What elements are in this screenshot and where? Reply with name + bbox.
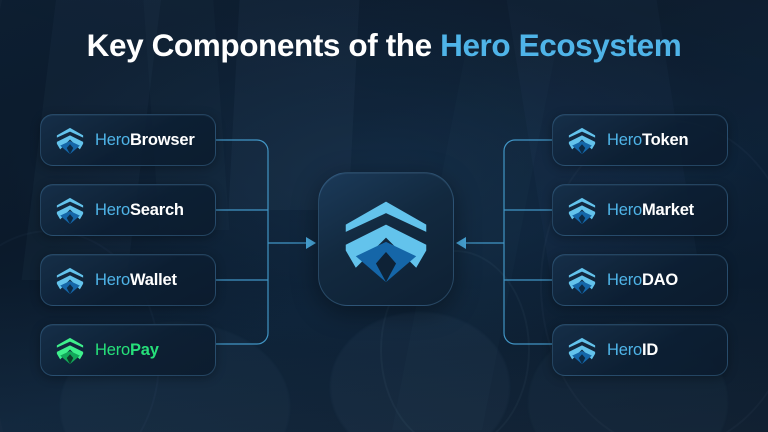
right-bus-path — [504, 140, 552, 344]
card-label-suffix: Browser — [130, 131, 195, 149]
card-label: HeroWallet — [95, 271, 177, 290]
card-label-prefix: Hero — [95, 131, 130, 149]
card-label-prefix: Hero — [607, 341, 642, 359]
card-label-suffix: Search — [130, 201, 184, 219]
arrow-left-icon — [456, 237, 466, 249]
page-title: Key Components of the Hero Ecosystem — [0, 27, 768, 64]
arrow-right-icon — [306, 237, 316, 249]
component-card-heropay[interactable]: HeroPay — [40, 324, 216, 376]
shield-icon — [567, 265, 597, 295]
card-label-prefix: Hero — [95, 341, 130, 359]
card-label: HeroDAO — [607, 271, 678, 290]
card-label-prefix: Hero — [95, 271, 130, 289]
card-label-suffix: Token — [642, 131, 688, 149]
card-label-prefix: Hero — [607, 131, 642, 149]
card-label-suffix: DAO — [642, 271, 678, 289]
center-logo-card[interactable] — [318, 172, 454, 306]
component-card-herodao[interactable]: HeroDAO — [552, 254, 728, 306]
shield-icon — [55, 265, 85, 295]
component-card-heromarket[interactable]: HeroMarket — [552, 184, 728, 236]
card-label: HeroBrowser — [95, 131, 195, 150]
shield-icon — [55, 125, 85, 155]
card-label-suffix: ID — [642, 341, 658, 359]
shield-icon — [567, 335, 597, 365]
shield-icon — [55, 335, 85, 365]
left-bus-path — [216, 140, 268, 344]
card-label: HeroMarket — [607, 201, 694, 220]
hero-shield-logo-icon — [340, 193, 432, 285]
card-label-suffix: Market — [642, 201, 694, 219]
card-label-prefix: Hero — [607, 271, 642, 289]
card-label-suffix: Pay — [130, 341, 159, 359]
page-title-accent: Hero Ecosystem — [440, 27, 681, 63]
component-card-herobrowser[interactable]: HeroBrowser — [40, 114, 216, 166]
card-label-prefix: Hero — [95, 201, 130, 219]
component-card-heroid[interactable]: HeroID — [552, 324, 728, 376]
card-label: HeroSearch — [95, 201, 184, 220]
component-card-herowallet[interactable]: HeroWallet — [40, 254, 216, 306]
card-label-prefix: Hero — [607, 201, 642, 219]
component-card-herotoken[interactable]: HeroToken — [552, 114, 728, 166]
shield-icon — [55, 195, 85, 225]
card-label-suffix: Wallet — [130, 271, 177, 289]
page-title-lead: Key Components of the — [87, 27, 440, 63]
infographic-canvas: Key Components of the Hero Ecosystem Her… — [0, 0, 768, 432]
component-card-herosearch[interactable]: HeroSearch — [40, 184, 216, 236]
card-label: HeroPay — [95, 341, 159, 360]
card-label: HeroToken — [607, 131, 688, 150]
background-blob — [330, 312, 510, 432]
card-label: HeroID — [607, 341, 658, 360]
shield-icon — [567, 195, 597, 225]
shield-icon — [567, 125, 597, 155]
